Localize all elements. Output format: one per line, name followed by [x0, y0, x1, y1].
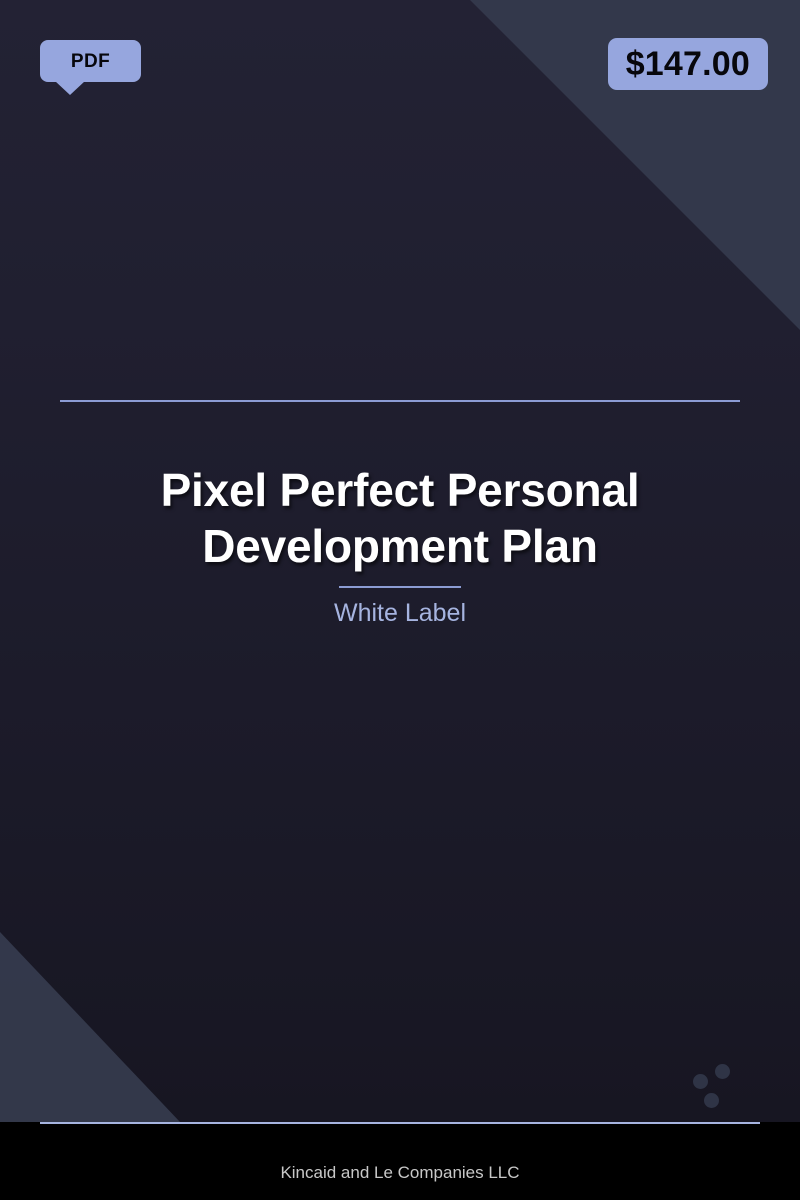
footer: Kincaid and Le Companies LLC [0, 1122, 800, 1200]
footer-divider [40, 1122, 760, 1124]
hero-block: Pixel Perfect Personal Development Plan … [0, 462, 800, 628]
dot-cluster-decoration [692, 1062, 736, 1112]
price-badge[interactable]: $147.00 [608, 38, 768, 90]
format-badge-tail-icon [55, 81, 85, 95]
format-badge-label: PDF [71, 52, 110, 71]
price-badge-label: $147.00 [626, 47, 750, 81]
format-badge[interactable]: PDF [40, 40, 141, 82]
corner-wedge-bottom-left [0, 932, 180, 1122]
page-title: Pixel Perfect Personal Development Plan [0, 462, 800, 574]
page-subtitle: White Label [0, 598, 800, 628]
dot-icon-bottom [704, 1093, 719, 1108]
format-badge-body[interactable]: PDF [40, 40, 141, 82]
dot-icon-top-right [715, 1064, 730, 1079]
footer-company-name: Kincaid and Le Companies LLC [0, 1164, 800, 1181]
product-cover-card: PDF $147.00 Pixel Perfect Personal Devel… [0, 0, 800, 1200]
dot-icon-left [693, 1074, 708, 1089]
card-body: PDF $147.00 Pixel Perfect Personal Devel… [0, 0, 800, 1122]
top-divider [60, 400, 740, 402]
subtitle-divider [339, 586, 461, 588]
